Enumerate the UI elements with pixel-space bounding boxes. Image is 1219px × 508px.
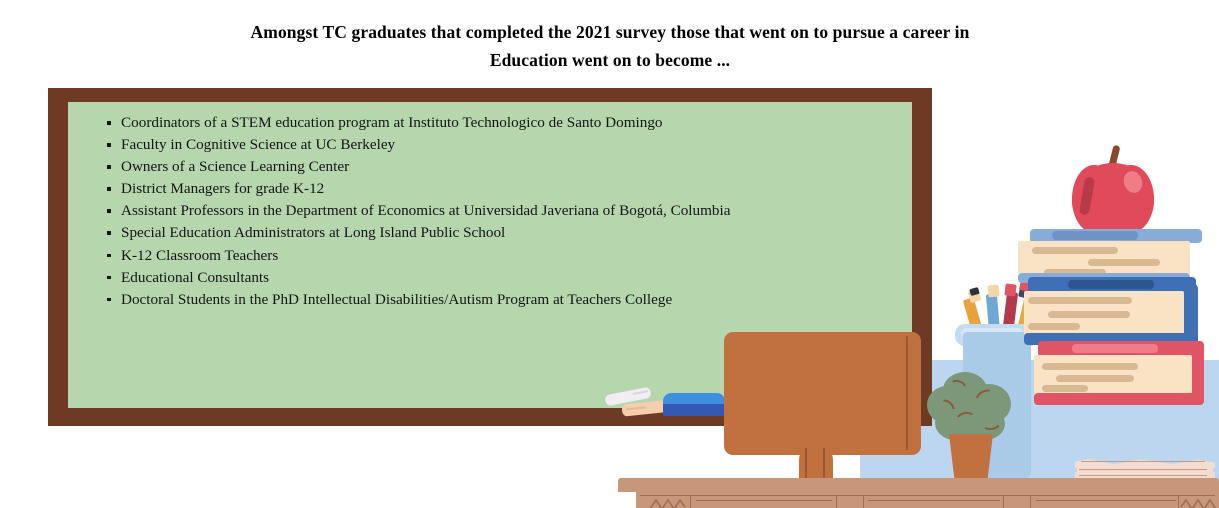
desk-panel-line: [868, 500, 1000, 501]
apple-icon: [1072, 145, 1154, 235]
page-line: [1042, 385, 1088, 392]
desk-seam: [640, 495, 1215, 496]
page-line: [1056, 375, 1134, 382]
plant-foliage: [925, 370, 1015, 444]
list-item: Owners of a Science Learning Center: [104, 156, 904, 178]
list-item: District Managers for grade K-12: [104, 178, 904, 200]
bullet-icon: [107, 187, 111, 191]
list-item: Educational Consultants: [104, 267, 904, 289]
monitor-illustration: [710, 320, 960, 490]
bullet-icon: [107, 276, 111, 280]
list-item-label: Special Education Administrators at Long…: [121, 224, 505, 241]
bullet-icon: [107, 254, 111, 258]
bullet-icon: [107, 298, 111, 302]
page-line: [1042, 363, 1138, 370]
desk-panel-divider: [690, 495, 691, 508]
book-spine-shade: [1052, 231, 1138, 240]
monitor-back-panel: [724, 332, 921, 455]
desk-panel-divider: [1030, 495, 1031, 508]
page-line: [1088, 259, 1160, 266]
list-item-label: K-12 Classroom Teachers: [121, 247, 278, 264]
bullet-icon: [107, 209, 111, 213]
page-line: [1028, 323, 1080, 330]
pencil-red-tip: [1004, 283, 1016, 296]
book-stack-illustration: [1030, 145, 1219, 485]
desk-panel-line: [1036, 500, 1176, 501]
page-line: [1048, 311, 1130, 318]
desk-panel-divider: [863, 495, 864, 508]
page-line: [1028, 297, 1132, 304]
list-item-label: Faculty in Cognitive Science at UC Berke…: [121, 136, 395, 153]
book-spine-highlight: [1072, 344, 1158, 353]
pencil-blue-tip-wood: [987, 285, 999, 298]
desk-top: [618, 478, 1219, 492]
page-line: [1032, 247, 1118, 254]
monitor-edge: [906, 336, 908, 450]
career-outcomes-list: Coordinators of a STEM education program…: [104, 112, 904, 311]
book-dark-blue: [1024, 277, 1202, 345]
desk-panel-divider: [1178, 495, 1179, 508]
list-item: Assistant Professors in the Department o…: [104, 200, 904, 222]
list-item: K-12 Classroom Teachers: [104, 245, 904, 267]
list-item: Faculty in Cognitive Science at UC Berke…: [104, 134, 904, 156]
title-line-2: Education went on to become ...: [160, 46, 1060, 74]
bullet-icon: [107, 165, 111, 169]
list-item: Doctoral Students in the PhD Intellectua…: [104, 289, 904, 311]
paper-edge-line: [1079, 475, 1207, 476]
desk-carving-left: [648, 498, 686, 508]
desk-illustration: [618, 478, 1219, 508]
bullet-icon: [107, 143, 111, 147]
book-light-blue: [1030, 229, 1202, 281]
paper-edge-line: [1079, 469, 1207, 470]
list-item-label: District Managers for grade K-12: [121, 180, 324, 197]
list-item: Special Education Administrators at Long…: [104, 222, 904, 244]
list-item-label: Coordinators of a STEM education program…: [121, 114, 663, 131]
title-line-1: Amongst TC graduates that completed the …: [251, 22, 970, 42]
book-spine-shade: [1068, 280, 1154, 289]
desk-panel-divider: [836, 495, 837, 508]
list-item-label: Owners of a Science Learning Center: [121, 158, 349, 175]
desk-carving-right: [1180, 498, 1218, 508]
list-item-label: Assistant Professors in the Department o…: [121, 202, 730, 219]
bullet-icon: [107, 231, 111, 235]
book-red: [1028, 341, 1206, 407]
desk-panel-divider: [1003, 495, 1004, 508]
page-title: Amongst TC graduates that completed the …: [160, 18, 1060, 74]
plant-pot: [949, 434, 993, 478]
bullet-icon: [107, 121, 111, 125]
book-cover-bottom: [1034, 393, 1204, 405]
paper-edge-line: [1081, 461, 1205, 462]
desk-panel-line: [696, 500, 832, 501]
list-item-label: Educational Consultants: [121, 269, 269, 286]
list-item-label: Doctoral Students in the PhD Intellectua…: [121, 291, 672, 308]
list-item: Coordinators of a STEM education program…: [104, 112, 904, 134]
slide-canvas: Amongst TC graduates that completed the …: [0, 0, 1219, 508]
plant-illustration: [925, 370, 1015, 482]
